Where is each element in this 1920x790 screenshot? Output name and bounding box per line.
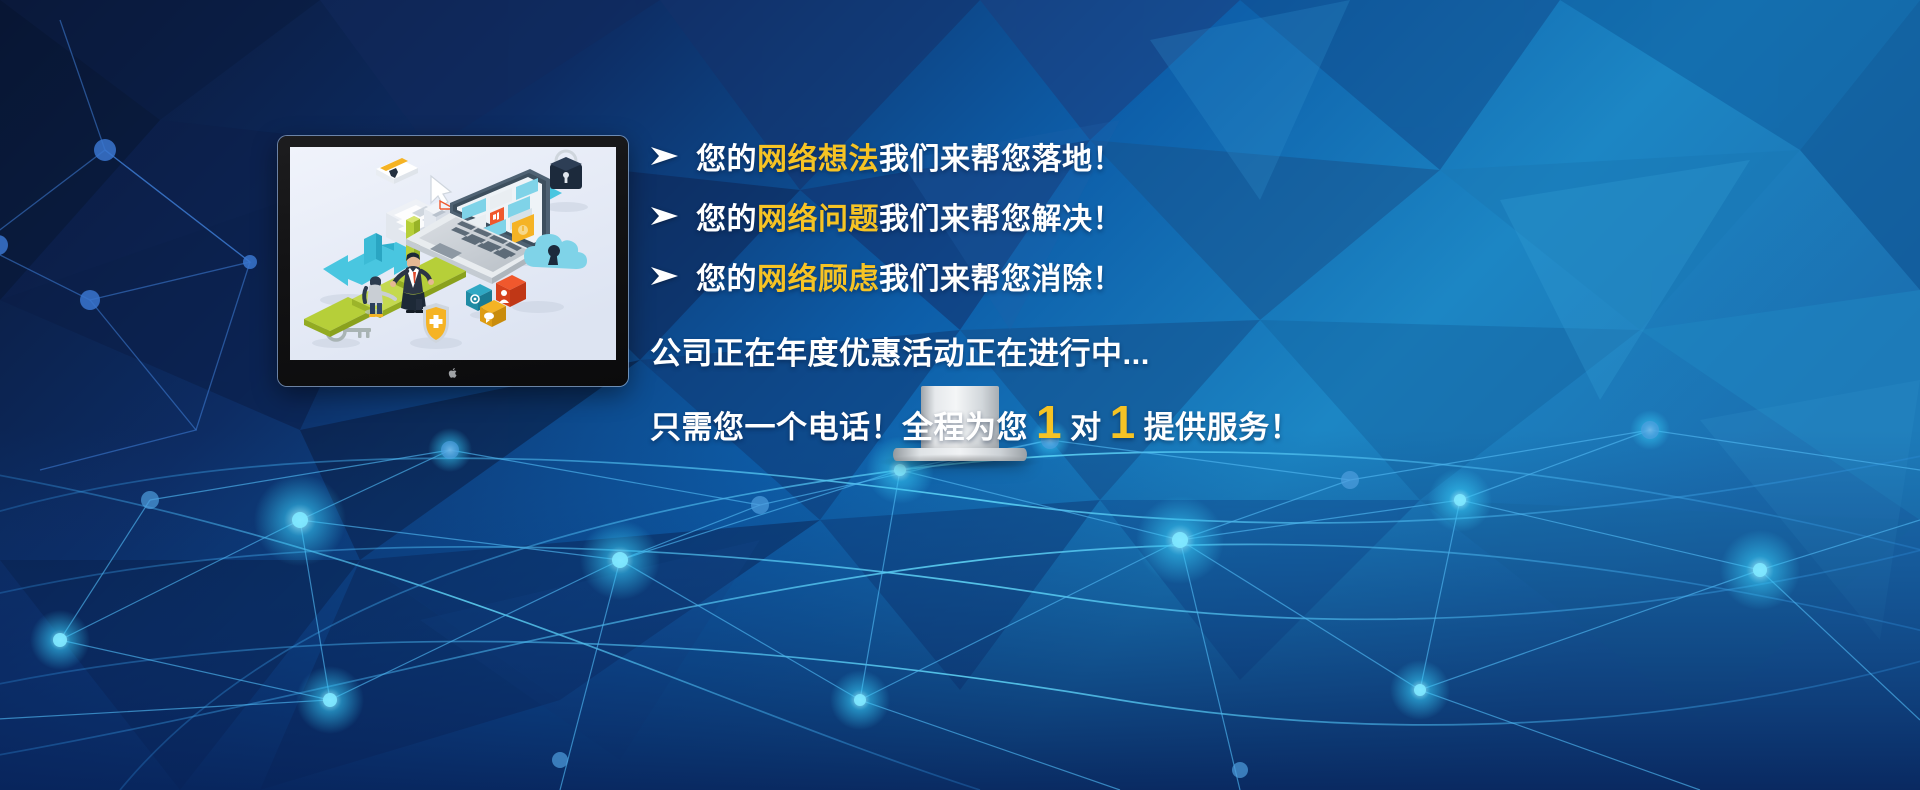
bullet-text-3: 您的网络顾虑我们来帮您消除！ xyxy=(696,254,1123,298)
cta-number-1: 1 xyxy=(1028,399,1070,445)
monitor-chin xyxy=(278,360,628,386)
bullet-3-post: 我们来帮您消除！ xyxy=(879,263,1123,296)
bullet-1-post: 我们来帮您落地！ xyxy=(879,143,1123,176)
arrow-bullet-icon xyxy=(650,205,696,227)
copy-block: 您的网络想法我们来帮您落地！ 您的网络问题我们来帮您解决！ 您的网络顾虑我们来帮… xyxy=(650,126,1350,447)
left-bars xyxy=(364,233,382,265)
bullet-row-3: 您的网络顾虑我们来帮您消除！ xyxy=(650,246,1350,306)
arrow-bullet-icon xyxy=(650,145,696,167)
cta-mid: 对 xyxy=(1070,402,1102,447)
desktop-monitor xyxy=(278,136,628,386)
promo-line: 公司正在年度优惠活动正在进行中... xyxy=(650,328,1350,373)
bullet-2-pre: 您的 xyxy=(696,203,757,236)
bullet-2-highlight: 网络问题 xyxy=(757,203,879,236)
cta-part1: 只需您一个电话！全程为您 xyxy=(650,402,1028,447)
bullet-1-highlight: 网络想法 xyxy=(757,143,879,176)
bullet-3-pre: 您的 xyxy=(696,263,757,296)
bullet-text-2: 您的网络问题我们来帮您解决！ xyxy=(696,194,1123,238)
cta-line: 只需您一个电话！全程为您1对1提供服务！ xyxy=(650,399,1350,447)
bullet-row-2: 您的网络问题我们来帮您解决！ xyxy=(650,186,1350,246)
promo-banner: 您的网络想法我们来帮您落地！ 您的网络问题我们来帮您解决！ 您的网络顾虑我们来帮… xyxy=(0,0,1920,790)
bullet-row-1: 您的网络想法我们来帮您落地！ xyxy=(650,126,1350,186)
bullet-1-pre: 您的 xyxy=(696,143,757,176)
isometric-network-security-illustration xyxy=(290,147,616,360)
arrow-bullet-icon xyxy=(650,265,696,287)
monitor-base xyxy=(893,448,1027,461)
bullet-2-post: 我们来帮您解决！ xyxy=(879,203,1123,236)
bullet-3-highlight: 网络顾虑 xyxy=(757,263,879,296)
monitor-screen xyxy=(290,147,616,360)
cta-number-2: 1 xyxy=(1102,399,1144,445)
bullet-text-1: 您的网络想法我们来帮您落地！ xyxy=(696,134,1123,178)
apple-logo-icon xyxy=(448,367,458,379)
cta-part2: 提供服务！ xyxy=(1144,402,1302,447)
